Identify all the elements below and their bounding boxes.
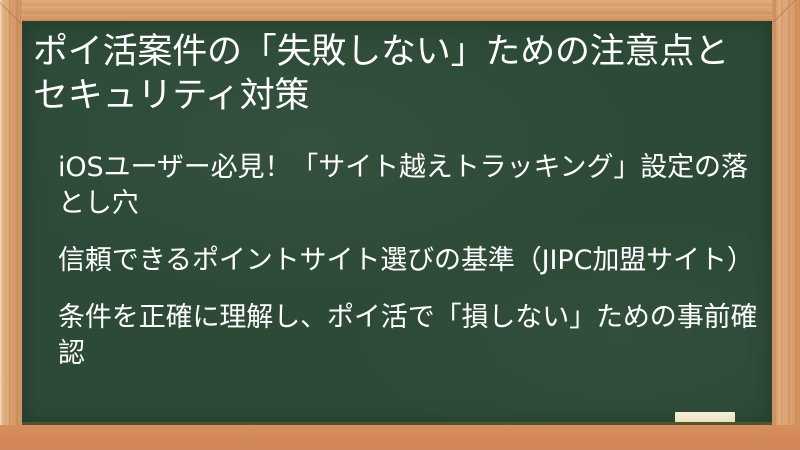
slide-content: ポイ活案件の「失敗しない」ための注意点とセキュリティ対策 iOSユーザー必見！「… <box>22 21 772 425</box>
bullet-list: iOSユーザー必見！「サイト越えトラッキング」設定の落とし穴 信頼できるポイント… <box>58 150 758 372</box>
frame-rail-right <box>772 0 800 450</box>
bullet-item-2: 信頼できるポイントサイト選びの基準（JIPC加盟サイト） <box>58 243 758 279</box>
chalkboard-surface: ポイ活案件の「失敗しない」ための注意点とセキュリティ対策 iOSユーザー必見！「… <box>22 21 772 425</box>
bullet-item-3: 条件を正確に理解し、ポイ活で「損しない」ための事前確認 <box>58 300 758 372</box>
frame-rail-bottom <box>0 425 800 450</box>
frame-rail-left <box>0 0 22 450</box>
chalkboard-slide: ポイ活案件の「失敗しない」ための注意点とセキュリティ対策 iOSユーザー必見！「… <box>0 0 800 450</box>
slide-title: ポイ活案件の「失敗しない」ための注意点とセキュリティ対策 <box>33 30 759 118</box>
bullet-item-1: iOSユーザー必見！「サイト越えトラッキング」設定の落とし穴 <box>58 150 758 222</box>
board-bottom-edge <box>22 422 772 425</box>
